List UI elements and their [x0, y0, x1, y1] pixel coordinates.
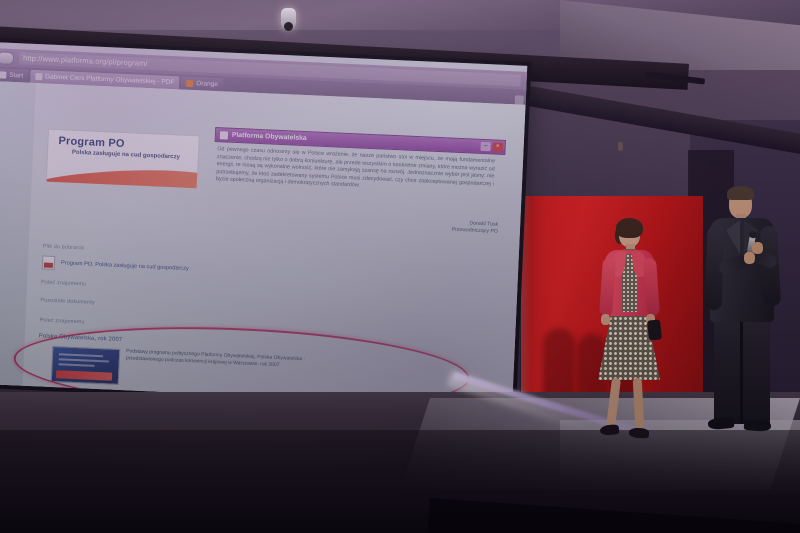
logo-subtitle: Polska zasługuje na cud gospodarczy — [66, 149, 186, 162]
menu-icon[interactable] — [515, 95, 524, 104]
projection-screen: http://www.platforma.org/pl/program/ Sta… — [0, 38, 531, 412]
man-hand-right — [752, 242, 763, 254]
stage-photo: http://www.platforma.org/pl/program/ Sta… — [0, 0, 800, 533]
tab-label: Start — [9, 72, 23, 80]
signature-block: Donald Tusk Przewodniczący PO — [451, 220, 498, 236]
minimize-button[interactable]: – — [480, 142, 490, 151]
browser-tab[interactable]: Start — [0, 68, 28, 82]
window-title: Platforma Obywatelska — [232, 132, 307, 142]
site-logo: Program PO Polska zasługuje na cud gospo… — [46, 129, 200, 188]
page-icon — [0, 71, 7, 78]
wall-sconce-icon — [618, 142, 623, 151]
man-hair — [727, 186, 754, 200]
man-trousers — [714, 312, 770, 424]
close-icon[interactable]: × — [492, 142, 502, 151]
page-icon — [35, 73, 42, 80]
pdf-icon — [42, 255, 56, 270]
window-controls[interactable]: – × — [480, 142, 504, 152]
back-arrow-icon[interactable] — [0, 51, 14, 65]
orange-icon — [186, 80, 193, 87]
page-sidebar — [0, 81, 36, 386]
projection-surface: http://www.platforma.org/pl/program/ Sta… — [0, 42, 527, 407]
section-label-other-docs: Pozostałe dokumenty — [40, 297, 95, 305]
download-row-1[interactable]: Program PO, Polska zasługuje na cud gosp… — [42, 255, 189, 276]
man-shoe-left — [708, 417, 735, 430]
logo-swoosh-icon — [47, 164, 198, 189]
section-label-share-2[interactable]: Poleć znajomemu — [39, 317, 84, 325]
download-link-1[interactable]: Program PO, Polska zasługuje na cud gosp… — [61, 260, 189, 272]
site-icon — [220, 131, 228, 139]
tab-label: Orange — [196, 80, 218, 88]
woman-clutch-bag — [647, 319, 662, 340]
logo-title: Program PO — [58, 135, 125, 150]
woman-hand-left — [601, 314, 610, 325]
page-paragraph: Od pewnego czasu odnosimy się w Polsce w… — [216, 146, 495, 196]
woman-hair — [616, 218, 643, 238]
section-label-download-1: Plik do pobrania — [43, 243, 84, 251]
man-hand-left — [744, 252, 755, 264]
section-label-share-1[interactable]: Poleć znajomemu — [41, 279, 86, 287]
webpage-content: Program PO Polska zasługuje na cud gospo… — [0, 81, 526, 407]
signature-role: Przewodniczący PO — [451, 227, 498, 236]
ceiling-spotlight-icon — [281, 8, 296, 30]
